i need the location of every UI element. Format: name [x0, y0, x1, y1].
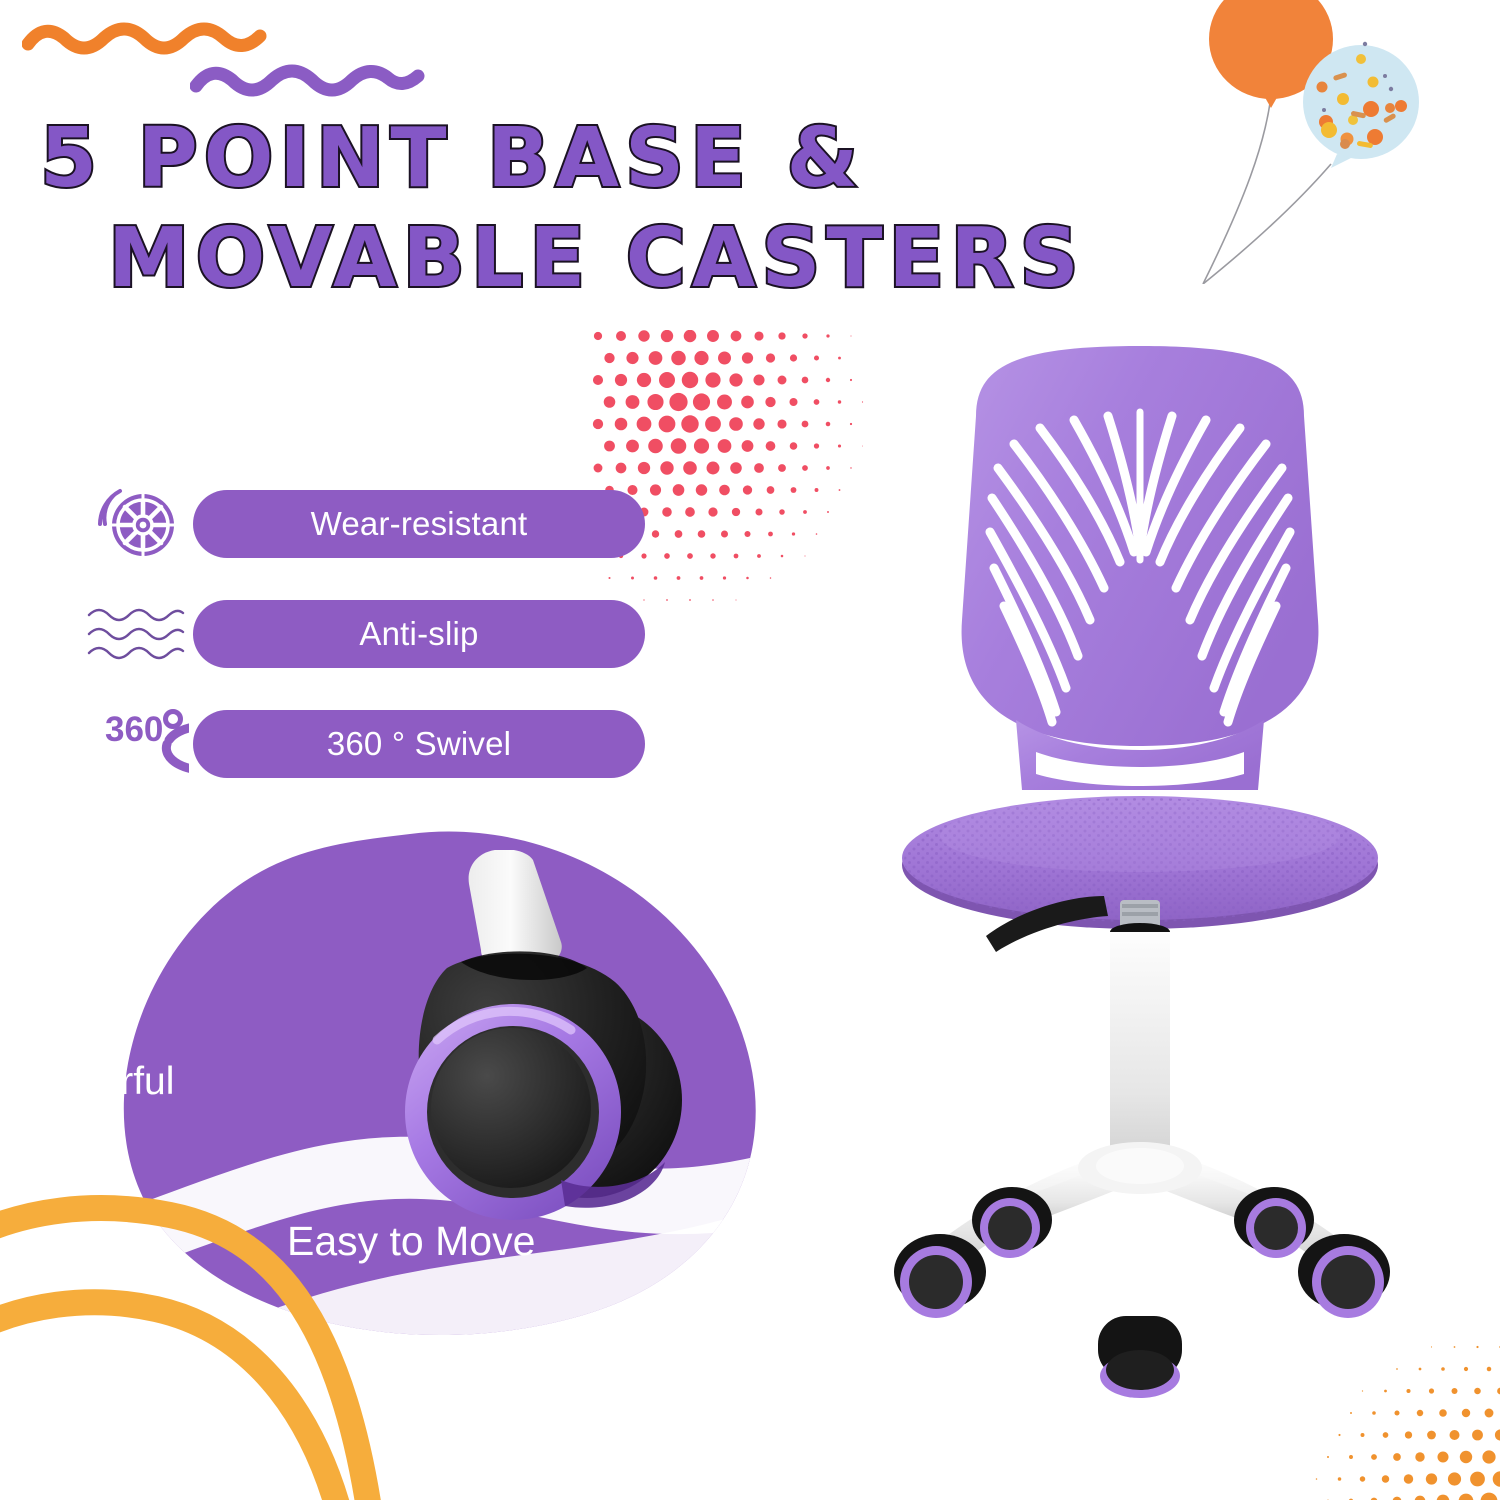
orange-arc-inner [0, 1302, 340, 1500]
feature-list: Wear-resistant Anti-slip 360 [80, 490, 680, 820]
feature-pill-wear-resistant[interactable]: Wear-resistant [193, 490, 645, 558]
feature-label: Wear-resistant [311, 505, 528, 543]
feature-pill-anti-slip[interactable]: Anti-slip [193, 600, 645, 668]
feature-row-swivel[interactable]: 360 360 ° Swivel [80, 710, 680, 778]
page-title-line-2: MOVABLE CASTERS [108, 218, 1034, 300]
360-icon-text: 360 [105, 710, 163, 749]
wavy-lines-icon [80, 590, 190, 678]
page-title: 5 POINT BASE & MOVABLE CASTERS [34, 118, 1034, 300]
feature-row-wear-resistant[interactable]: Wear-resistant [80, 490, 680, 558]
360-rotation-icon: 360 [82, 700, 192, 788]
feature-pill-swivel[interactable]: 360 ° Swivel [193, 710, 645, 778]
infographic-canvas: 5 POINT BASE & MOVABLE CASTERS [0, 0, 1500, 1500]
balloons-decoration [1185, 0, 1500, 284]
caster-wheel-icon [84, 480, 194, 568]
kids-office-chair-image [790, 320, 1490, 1440]
feature-label: Anti-slip [359, 615, 478, 653]
orange-arcs-decoration [0, 1175, 390, 1500]
callout-label-colorful: Colorful [40, 1060, 174, 1104]
chair-backrest [962, 346, 1319, 746]
feature-label: 360 ° Swivel [327, 725, 511, 763]
balloon-string-blue [1203, 164, 1331, 284]
squiggle-purple-icon [190, 56, 430, 106]
page-title-line-1: 5 POINT BASE & [40, 118, 1034, 200]
caster-wheel-photo [365, 850, 695, 1260]
chair-gas-cylinder [1110, 900, 1170, 1171]
feature-row-anti-slip[interactable]: Anti-slip [80, 600, 680, 668]
